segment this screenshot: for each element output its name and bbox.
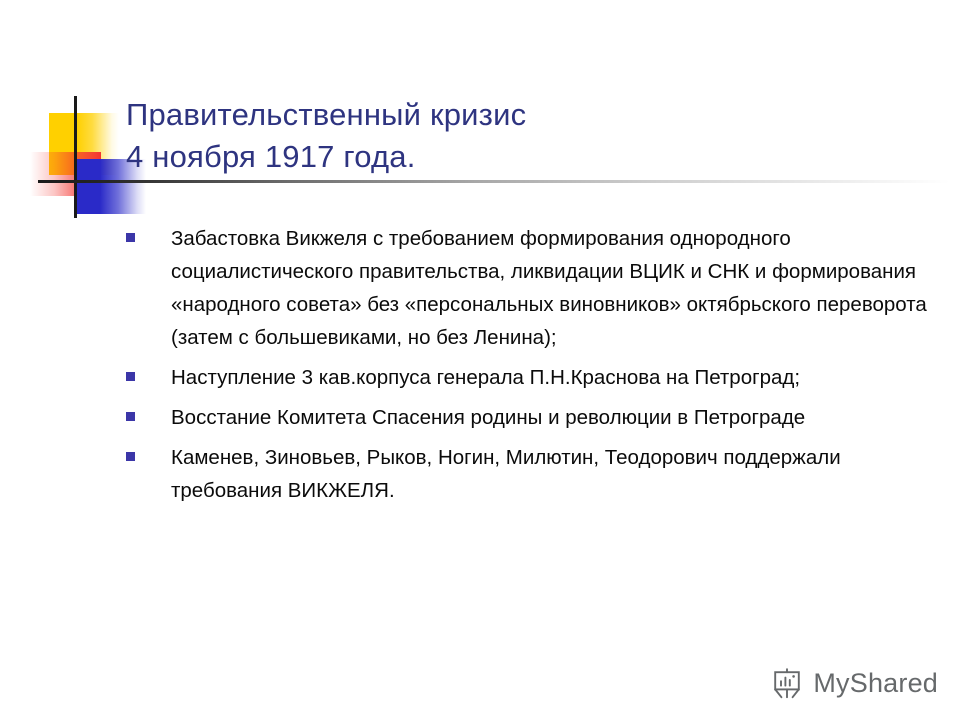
square-bullet-icon <box>126 412 135 421</box>
ornament-vertical-line <box>74 96 77 218</box>
presentation-slide: Правительственный кризис 4 ноября 1917 г… <box>0 0 960 720</box>
myshared-watermark: MyShared <box>770 666 938 700</box>
myshared-label: MyShared <box>813 668 938 698</box>
list-item-text: Наступление 3 кав.корпуса генерала П.Н.К… <box>171 361 938 394</box>
ornament-yellow-square <box>49 113 119 175</box>
list-item: Забастовка Викжеля с требованием формиро… <box>126 222 938 354</box>
square-bullet-icon <box>126 233 135 242</box>
list-item-text: Забастовка Викжеля с требованием формиро… <box>171 222 938 354</box>
ornament-red-rectangle <box>30 152 101 196</box>
ornament-horizontal-rule <box>38 180 950 183</box>
bullet-list: Забастовка Викжеля с требованием формиро… <box>126 222 938 514</box>
list-item: Наступление 3 кав.корпуса генерала П.Н.К… <box>126 361 938 394</box>
square-bullet-icon <box>126 372 135 381</box>
list-item: Каменев, Зиновьев, Рыков, Ногин, Милютин… <box>126 441 938 507</box>
list-item-text: Восстание Комитета Спасения родины и рев… <box>171 401 938 434</box>
square-bullet-icon <box>126 452 135 461</box>
presentation-chart-icon <box>770 666 804 700</box>
slide-title: Правительственный кризис 4 ноября 1917 г… <box>126 94 826 178</box>
list-item: Восстание Комитета Спасения родины и рев… <box>126 401 938 434</box>
list-item-text: Каменев, Зиновьев, Рыков, Ногин, Милютин… <box>171 441 938 507</box>
